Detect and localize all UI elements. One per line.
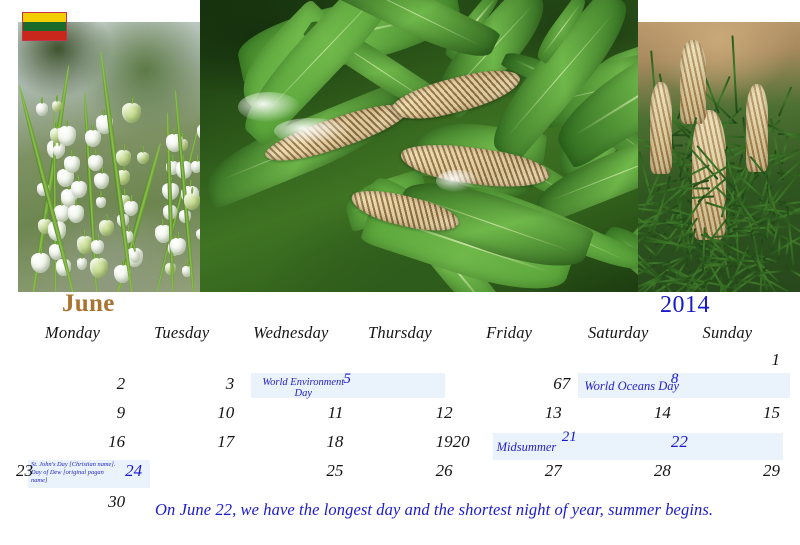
month-title: June [62,290,115,318]
day-number: 23 [16,461,125,481]
flag-band-yellow [23,13,66,22]
day-cell-8[interactable]: 8 [673,373,782,402]
willow-catkins-photo [200,0,638,292]
event-label-world-environment-day: World Environment Day [253,378,353,399]
day-number: 10 [217,403,234,423]
day-cell-12[interactable]: 12 [345,402,454,431]
day-number: 17 [217,432,234,452]
day-number: 7 [562,374,671,394]
day-cell-7[interactable]: 7 World Oceans Day [564,373,673,402]
weekday-header-sunday: Sunday [673,322,782,344]
day-cell-4[interactable]: 4 World Environment Day [236,373,345,402]
day-number: 12 [436,403,453,423]
day-cell-3[interactable]: 3 [127,373,236,402]
day-cell-13[interactable]: 13 [455,402,564,431]
day-cell-10[interactable]: 10 [127,402,236,431]
day-number: 24 [125,461,234,481]
day-cell-2[interactable]: 2 [18,373,127,402]
day-number: 25 [326,461,343,481]
day-number: 13 [545,403,562,423]
calendar-week-row: 23 St. John's Day [Christian name]. Day … [18,460,782,491]
weekday-header-thursday: Thursday [345,322,454,344]
day-cell-16[interactable]: 16 [18,431,127,460]
day-cell-29[interactable]: 29 [673,460,782,491]
day-number: 26 [436,461,453,481]
day-number: 22 [671,432,780,452]
day-cell-24[interactable]: 24 [127,460,236,491]
flag-band-green [23,22,66,31]
day-cell-empty [236,349,345,373]
day-number: 9 [117,403,126,423]
weekday-header-row: Monday Tuesday Wednesday Thursday Friday… [18,322,782,349]
day-cell-22[interactable]: 22 [673,431,782,460]
day-number: 11 [328,403,344,423]
weekday-header-wednesday: Wednesday [236,322,345,344]
day-number: 16 [108,432,125,452]
day-cell-26[interactable]: 26 [345,460,454,491]
day-cell-6[interactable]: 6 [455,373,564,402]
footer-caption: On June 22, we have the longest day and … [155,500,713,520]
day-cell-18[interactable]: 18 [236,431,345,460]
pine-candles-photo [638,22,800,292]
calendar-grid: Monday Tuesday Wednesday Thursday Friday… [18,322,782,519]
day-number: 21 [562,427,671,447]
weekday-header-friday: Friday [455,322,564,344]
day-number: 1 [771,350,780,370]
day-number: 5 [343,369,452,389]
day-cell-20[interactable]: 20 Midsummer [455,431,564,460]
day-number: 3 [226,374,235,394]
day-number: 2 [117,374,126,394]
day-number: 19 [436,432,453,452]
day-number: 18 [326,432,343,452]
weekday-header-saturday: Saturday [564,322,673,344]
day-number: 27 [545,461,562,481]
day-number: 29 [763,461,780,481]
day-cell-17[interactable]: 17 [127,431,236,460]
day-cell-21[interactable]: 21 [564,431,673,460]
lily-of-the-valley-photo [18,22,200,292]
day-cell-28[interactable]: 28 [564,460,673,491]
weekday-header-tuesday: Tuesday [127,322,236,344]
day-cell-11[interactable]: 11 [236,402,345,431]
calendar-week-row: 16 17 18 19 20 Midsummer 21 [18,431,782,460]
calendar-week-row: 2 3 4 World Environment Day 5 6 7 [18,373,782,402]
day-cell-15[interactable]: 15 [673,402,782,431]
day-number: 30 [108,492,125,512]
day-cell-empty [18,349,127,373]
day-cell-25[interactable]: 25 [236,460,345,491]
day-number: 14 [654,403,671,423]
year-title: 2014 [660,292,710,319]
day-number: 15 [763,403,780,423]
day-cell-23[interactable]: 23 St. John's Day [Christian name]. Day … [18,460,127,491]
day-cell-9[interactable]: 9 [18,402,127,431]
day-cell-empty [127,349,236,373]
day-cell-empty [564,349,673,373]
day-cell-27[interactable]: 27 [455,460,564,491]
day-number: 6 [553,374,562,394]
day-number: 20 [453,432,562,452]
lithuania-flag-icon [22,12,67,41]
calendar-section: June 2014 Monday Tuesday Wednesday Thurs… [0,292,800,545]
day-number: 28 [654,461,671,481]
day-number: 8 [671,369,780,389]
day-cell-30[interactable]: 30 [18,491,127,519]
day-cell-5[interactable]: 5 [345,373,454,402]
day-cell-empty [455,349,564,373]
day-cell-19[interactable]: 19 [345,431,454,460]
flag-band-red [23,31,66,40]
photo-strip [0,0,800,292]
calendar-page: June 2014 Monday Tuesday Wednesday Thurs… [0,0,800,545]
weekday-header-monday: Monday [18,322,127,344]
